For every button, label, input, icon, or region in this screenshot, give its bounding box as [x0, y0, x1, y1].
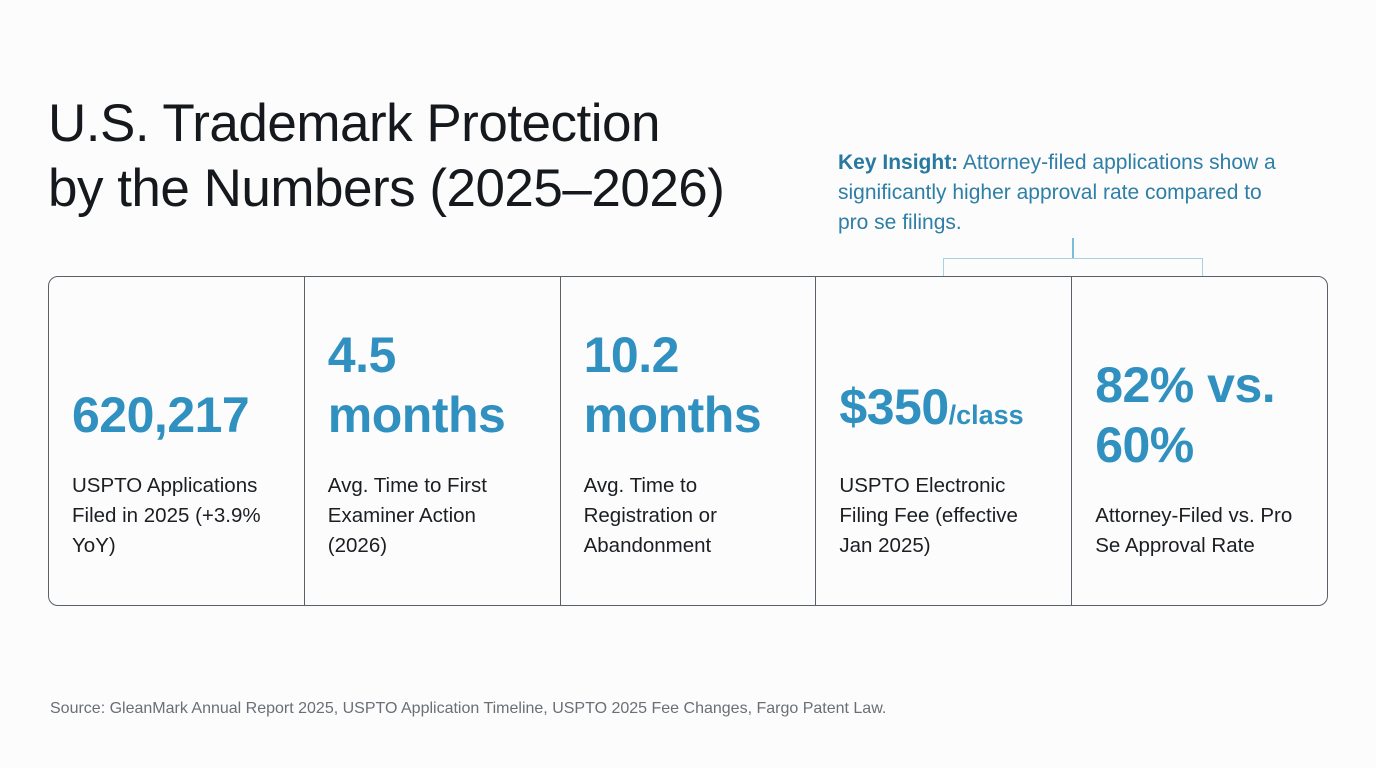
stat-label: Avg. Time to First Examiner Action (2026… [328, 471, 537, 561]
stat-value-line-2: 60% [1095, 415, 1304, 475]
page-title-line-2: by the Numbers (2025–2026) [48, 156, 848, 221]
stat-value-line-1: 4.5 [328, 325, 537, 385]
stat-value: $350/class [839, 377, 1048, 445]
source-note: Source: GleanMark Annual Report 2025, US… [50, 698, 886, 720]
stat-value: 620,217 [72, 385, 281, 445]
stat-label: USPTO Applications Filed in 2025 (+3.9% … [72, 471, 281, 561]
stat-label: Attorney-Filed vs. Pro Se Approval Rate [1095, 501, 1304, 561]
stat-value: 82% vs. 60% [1095, 355, 1304, 475]
connector-stem [1072, 238, 1074, 258]
stat-value-line-1: 620,217 [72, 385, 281, 445]
stats-container: 620,217 USPTO Applications Filed in 2025… [48, 276, 1328, 606]
stat-value-suffix: /class [949, 400, 1024, 430]
stat-card-time-to-registration: 10.2 months Avg. Time to Registration or… [561, 277, 817, 605]
insight-bracket-connector [943, 258, 1203, 276]
connector-bracket [943, 258, 1203, 276]
stat-card-first-examiner-action: 4.5 months Avg. Time to First Examiner A… [305, 277, 561, 605]
stat-value-line-2: months [328, 385, 537, 445]
stat-card-approval-rate-comparison: 82% vs. 60% Attorney-Filed vs. Pro Se Ap… [1072, 277, 1327, 605]
stat-value: 4.5 months [328, 325, 537, 445]
stat-value-line-1: $350/class [839, 377, 1048, 445]
stat-card-electronic-filing-fee: $350/class USPTO Electronic Filing Fee (… [816, 277, 1072, 605]
stat-value-line-1: 82% vs. [1095, 355, 1304, 415]
stat-label: USPTO Electronic Filing Fee (effective J… [839, 471, 1048, 561]
key-insight-callout: Key Insight: Attorney-filed applications… [838, 148, 1283, 238]
stat-value: 10.2 months [584, 325, 793, 445]
stat-value-line-1: 10.2 [584, 325, 793, 385]
page-title-line-1: U.S. Trademark Protection [48, 91, 848, 156]
stat-value-amount: $350 [839, 379, 948, 435]
stat-value-line-2: months [584, 385, 793, 445]
stat-label: Avg. Time to Registration or Abandonment [584, 471, 793, 561]
page-title: U.S. Trademark Protection by the Numbers… [48, 91, 848, 221]
key-insight-label: Key Insight: [838, 151, 958, 174]
stat-card-applications-filed: 620,217 USPTO Applications Filed in 2025… [49, 277, 305, 605]
infographic-canvas: U.S. Trademark Protection by the Numbers… [0, 0, 1376, 768]
